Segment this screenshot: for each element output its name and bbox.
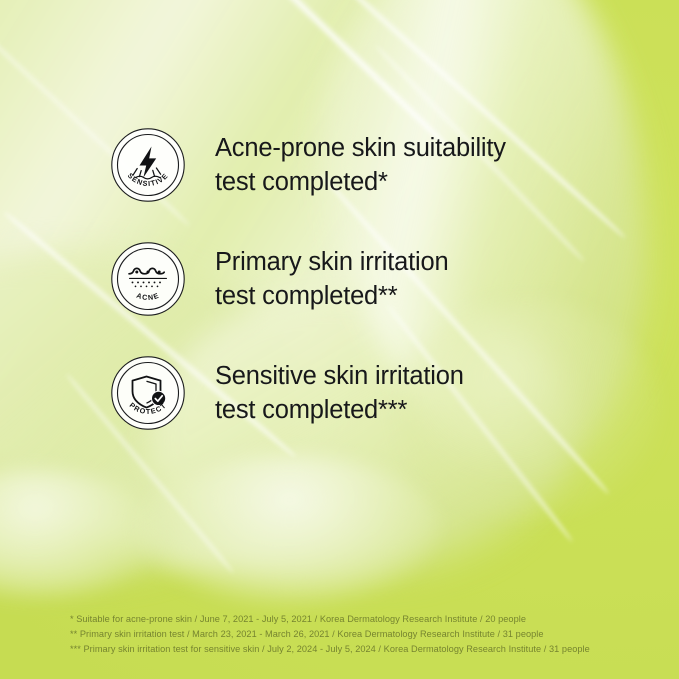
claim-item: SENSITIVE Acne-prone skin suitability te… [110,118,630,212]
claim-item: ACNE Primary skin irritation test comple… [110,232,630,326]
claim-text: Sensitive skin irritation test completed… [215,359,464,427]
claim-item: PROTECT Sensitive skin irritation test c… [110,346,630,440]
claim-line-2: test completed** [215,282,397,310]
claim-text: Primary skin irritation test completed** [215,245,448,313]
footnote-3: *** Primary skin irritation test for sen… [70,642,650,657]
claim-line-1: Sensitive skin irritation [215,362,464,390]
claims-list: SENSITIVE Acne-prone skin suitability te… [110,118,630,440]
badge-acne: ACNE [110,241,186,317]
claim-line-1: Acne-prone skin suitability [215,134,506,162]
content-layer: SENSITIVE Acne-prone skin suitability te… [0,0,679,679]
footnote-1: * Suitable for acne-prone skin / June 7,… [70,612,650,627]
claim-line-2: test completed* [215,168,388,196]
footnote-2: ** Primary skin irritation test / March … [70,627,650,642]
claim-line-2: test completed*** [215,396,407,424]
claim-text: Acne-prone skin suitability test complet… [215,131,506,199]
badge-sensitive: SENSITIVE [110,127,186,203]
badge-protect: PROTECT [110,355,186,431]
footnotes-block: * Suitable for acne-prone skin / June 7,… [70,612,650,658]
product-claims-banner: SENSITIVE Acne-prone skin suitability te… [0,0,679,679]
claim-line-1: Primary skin irritation [215,248,448,276]
